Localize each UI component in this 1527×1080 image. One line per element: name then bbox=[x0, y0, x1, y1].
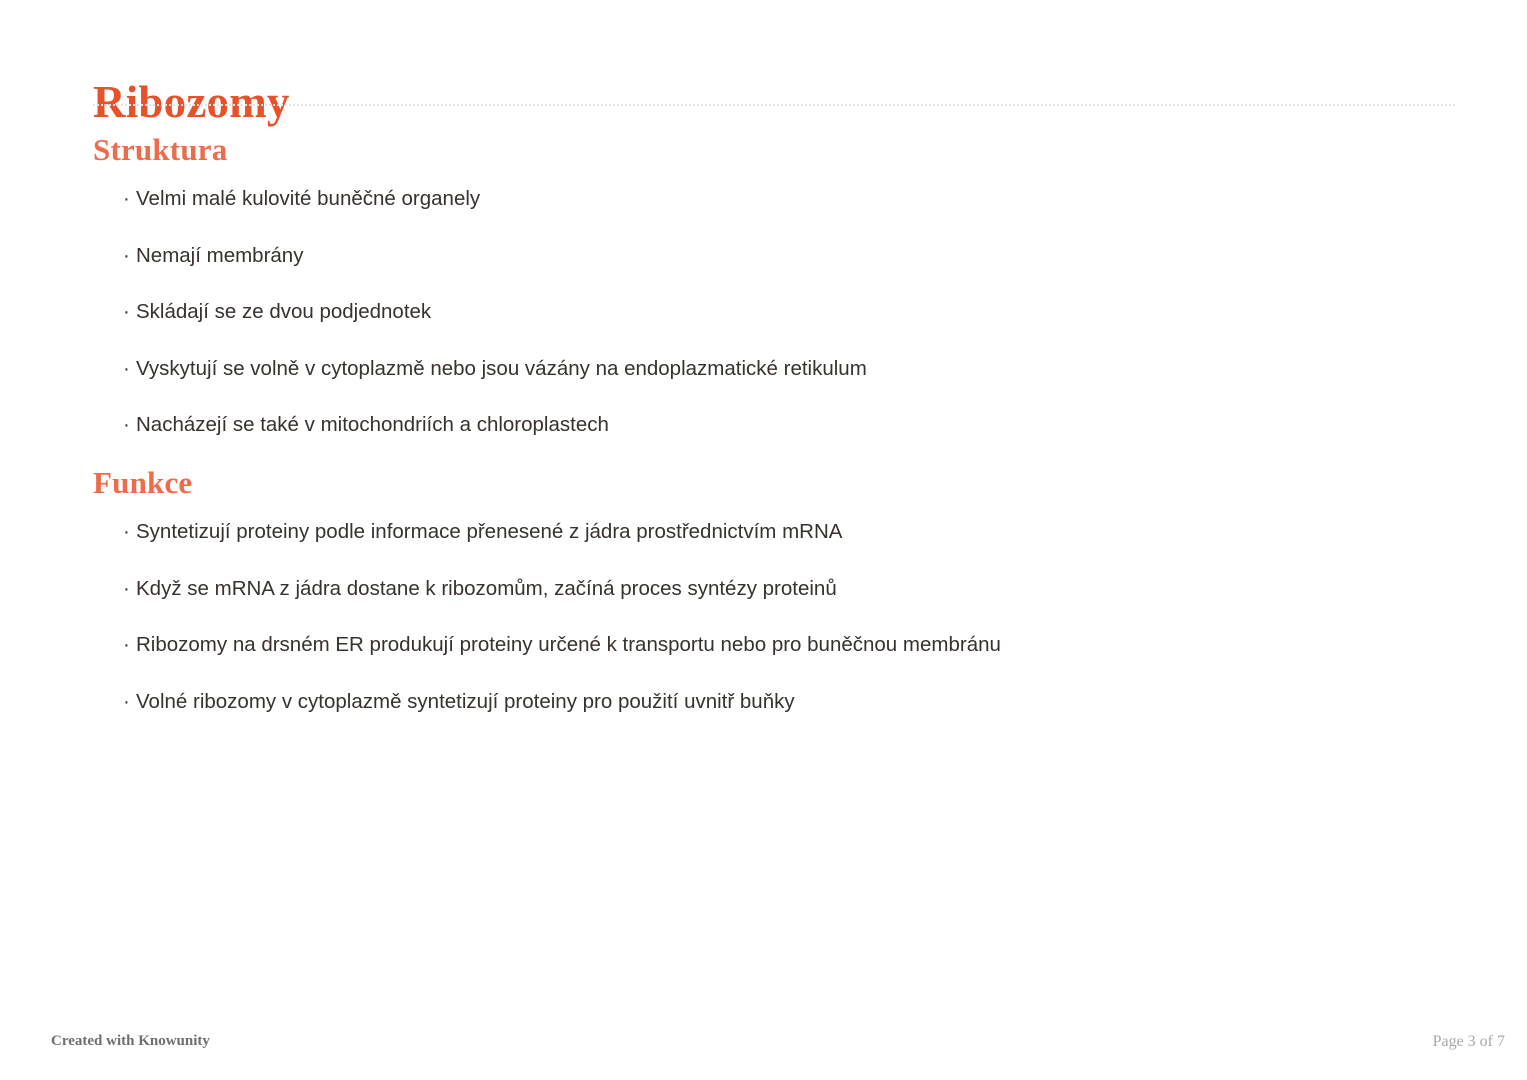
list-item-text: Ribozomy na drsném ER produkují proteiny… bbox=[136, 633, 1001, 656]
list-item-text: Vyskytují se volně v cytoplazmě nebo jso… bbox=[136, 357, 867, 380]
title-divider bbox=[93, 104, 1455, 106]
list-item-text: Skládají se ze dvou podjednotek bbox=[136, 300, 431, 323]
list-item: ·Volné ribozomy v cytoplazmě syntetizují… bbox=[0, 688, 1527, 716]
list-item-text: Nemají membrány bbox=[136, 244, 303, 267]
content-area: Struktura ·Velmi malé kulovité buněčné o… bbox=[0, 128, 1527, 716]
list-item: ·Ribozomy na drsném ER produkují protein… bbox=[0, 631, 1527, 659]
bullet-marker-icon: · bbox=[123, 518, 136, 546]
footer-brand-label: Created with Knowunity bbox=[51, 1032, 210, 1050]
list-item: ·Nacházejí se také v mitochondriích a ch… bbox=[0, 411, 1527, 439]
bullet-list-funkce: ·Syntetizují proteiny podle informace př… bbox=[0, 518, 1527, 716]
bullet-marker-icon: · bbox=[123, 631, 136, 659]
bullet-marker-icon: · bbox=[123, 298, 136, 326]
list-item-text: Syntetizují proteiny podle informace pře… bbox=[136, 520, 842, 543]
section-struktura: Struktura ·Velmi malé kulovité buněčné o… bbox=[0, 128, 1527, 439]
list-item: ·Když se mRNA z jádra dostane k ribozomů… bbox=[0, 575, 1527, 603]
list-item: ·Velmi malé kulovité buněčné organely bbox=[0, 185, 1527, 213]
list-item: ·Skládají se ze dvou podjednotek bbox=[0, 298, 1527, 326]
bullet-marker-icon: · bbox=[123, 185, 136, 213]
list-item: ·Nemají membrány bbox=[0, 242, 1527, 270]
bullet-marker-icon: · bbox=[123, 688, 136, 716]
list-item: ·Vyskytují se volně v cytoplazmě nebo js… bbox=[0, 355, 1527, 383]
bullet-list-struktura: ·Velmi malé kulovité buněčné organely ·N… bbox=[0, 185, 1527, 439]
slide-page: Ribozomy Struktura ·Velmi malé kulovité … bbox=[0, 0, 1527, 1080]
list-item-text: Když se mRNA z jádra dostane k ribozomům… bbox=[136, 577, 837, 600]
bullet-marker-icon: · bbox=[123, 355, 136, 383]
bullet-marker-icon: · bbox=[123, 411, 136, 439]
list-item-text: Velmi malé kulovité buněčné organely bbox=[136, 187, 480, 210]
page-footer: Created with Knowunity Page 3 of 7 bbox=[0, 1020, 1527, 1080]
page-title: Ribozomy bbox=[93, 75, 290, 129]
list-item-text: Volné ribozomy v cytoplazmě syntetizují … bbox=[136, 690, 795, 713]
section-heading-funkce: Funkce bbox=[0, 461, 1527, 505]
bullet-marker-icon: · bbox=[123, 242, 136, 270]
bullet-marker-icon: · bbox=[123, 575, 136, 603]
section-funkce: Funkce ·Syntetizují proteiny podle infor… bbox=[0, 461, 1527, 716]
footer-page-number: Page 3 of 7 bbox=[1433, 1033, 1505, 1051]
list-item-text: Nacházejí se také v mitochondriích a chl… bbox=[136, 413, 609, 436]
section-heading-struktura: Struktura bbox=[0, 128, 1527, 172]
list-item: ·Syntetizují proteiny podle informace př… bbox=[0, 518, 1527, 546]
